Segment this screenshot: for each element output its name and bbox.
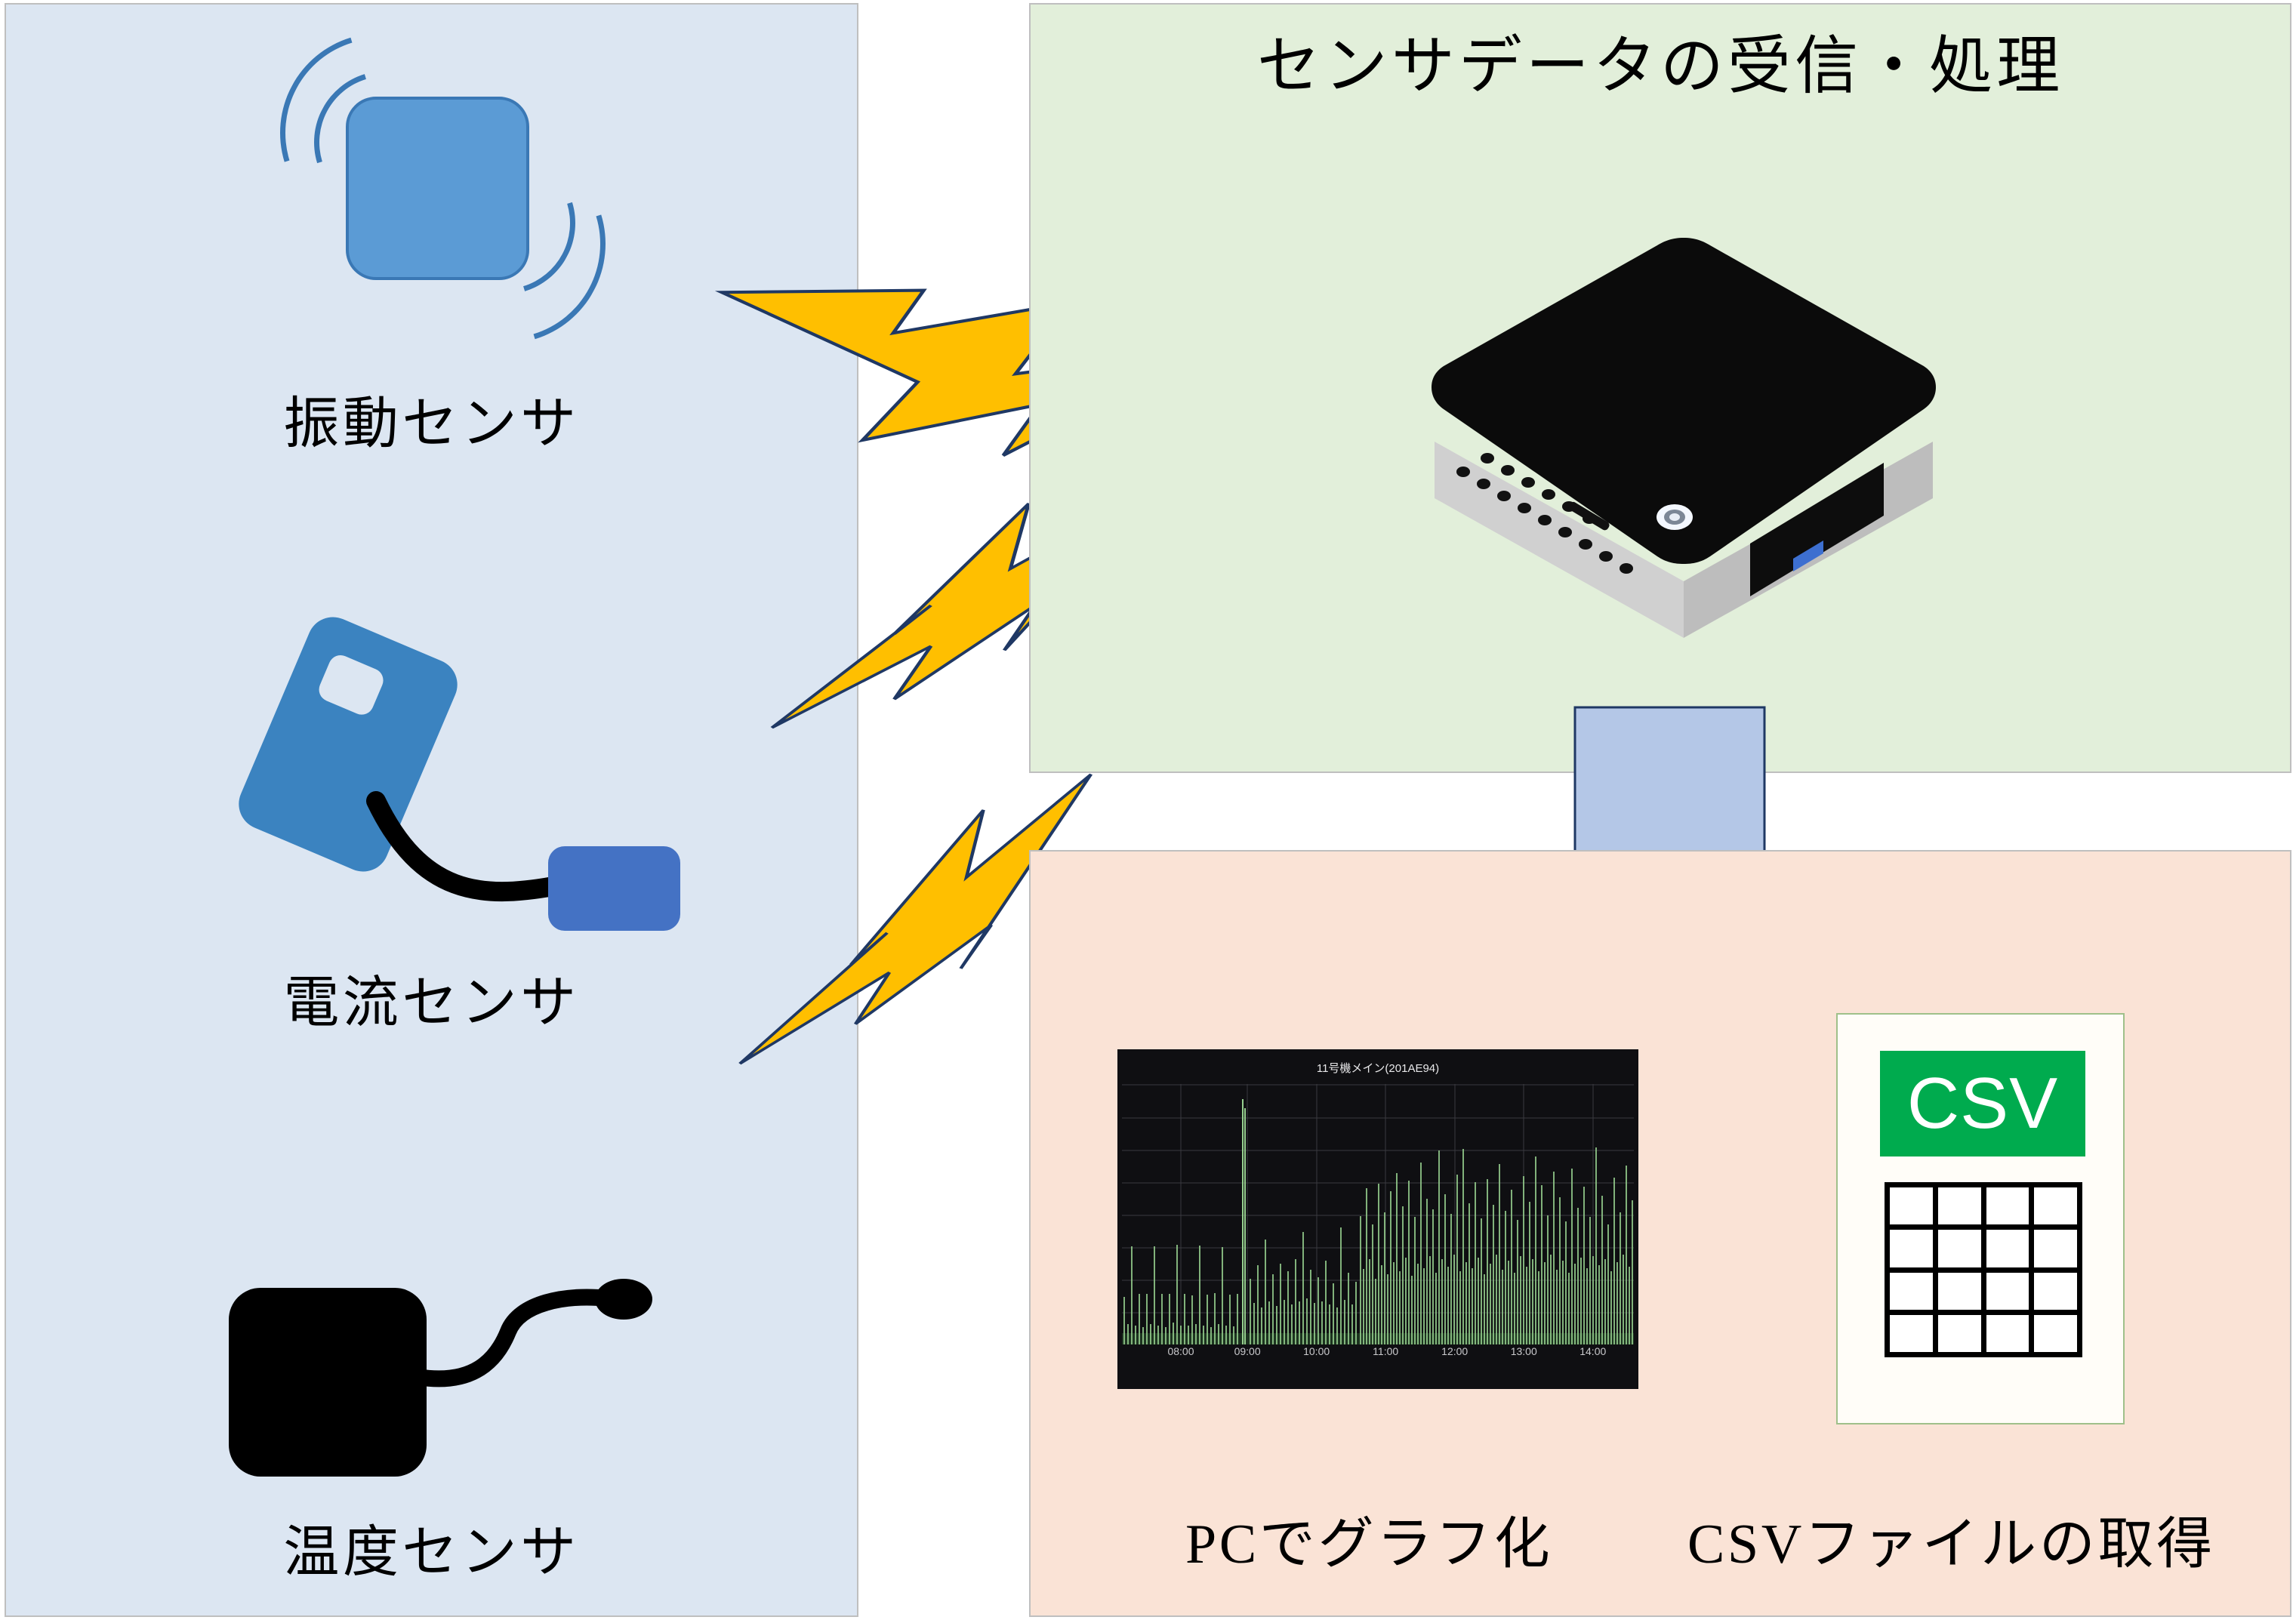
x-tick-label: 09:00: [1234, 1345, 1261, 1357]
chart-title: 11号機メイン(201AE94): [1117, 1060, 1638, 1076]
gateway-device-icon: [1412, 215, 1955, 653]
chart-x-axis: 08:00 09:00 10:00 11:00 12:00 13:00 14:0…: [1122, 1345, 1634, 1363]
chart-series-trace: [1122, 1099, 1634, 1344]
temperature-probe-cable: [414, 1280, 655, 1424]
clamp-module: [548, 846, 680, 931]
x-tick-label: 13:00: [1511, 1345, 1537, 1357]
csv-cell: [1986, 1187, 2029, 1224]
clamp-window: [316, 651, 387, 719]
x-tick-label: 11:00: [1373, 1345, 1398, 1357]
csv-cell: [1938, 1230, 1981, 1267]
csv-cell: [2034, 1315, 2077, 1352]
csv-cell: [1890, 1230, 1933, 1267]
csv-cell: [1986, 1230, 2029, 1267]
csv-cell: [1938, 1187, 1981, 1224]
x-tick-label: 14:00: [1579, 1345, 1606, 1357]
csv-badge-label: CSV: [1907, 1067, 2058, 1140]
csv-cell: [1986, 1315, 2029, 1352]
csv-cell: [2034, 1273, 2077, 1310]
csv-cell: [2034, 1187, 2077, 1224]
x-tick-label: 12:00: [1441, 1345, 1468, 1357]
csv-cell: [2034, 1230, 2077, 1267]
csv-cell: [1890, 1273, 1933, 1310]
csv-table-grid: [1885, 1182, 2082, 1357]
power-led-icon: [1657, 504, 1693, 530]
x-tick-label: 08:00: [1167, 1345, 1194, 1357]
csv-cell: [1890, 1187, 1933, 1224]
sensor-label-temperature: 温度センサ: [6, 1507, 857, 1588]
csv-cell: [1938, 1315, 1981, 1352]
graph-screenshot[interactable]: 11号機メイン(201AE94): [1117, 1049, 1638, 1389]
output-label-graph: PCでグラフ化: [1185, 1498, 1552, 1579]
x-tick-label: 10:00: [1303, 1345, 1330, 1357]
csv-file-icon[interactable]: CSV: [1836, 1013, 2125, 1424]
output-label-csv: CSVファイルの取得: [1687, 1498, 2215, 1579]
csv-badge: CSV: [1880, 1051, 2085, 1156]
csv-cell: [1938, 1273, 1981, 1310]
chart-plot-area: [1122, 1084, 1634, 1344]
gateway-panel-title: センサデータの受信・処理: [1031, 15, 2290, 106]
csv-cell: [1986, 1273, 2029, 1310]
csv-cell: [1890, 1315, 1933, 1352]
clamp-cable: [368, 797, 557, 910]
temperature-sensor-body: [229, 1288, 427, 1477]
